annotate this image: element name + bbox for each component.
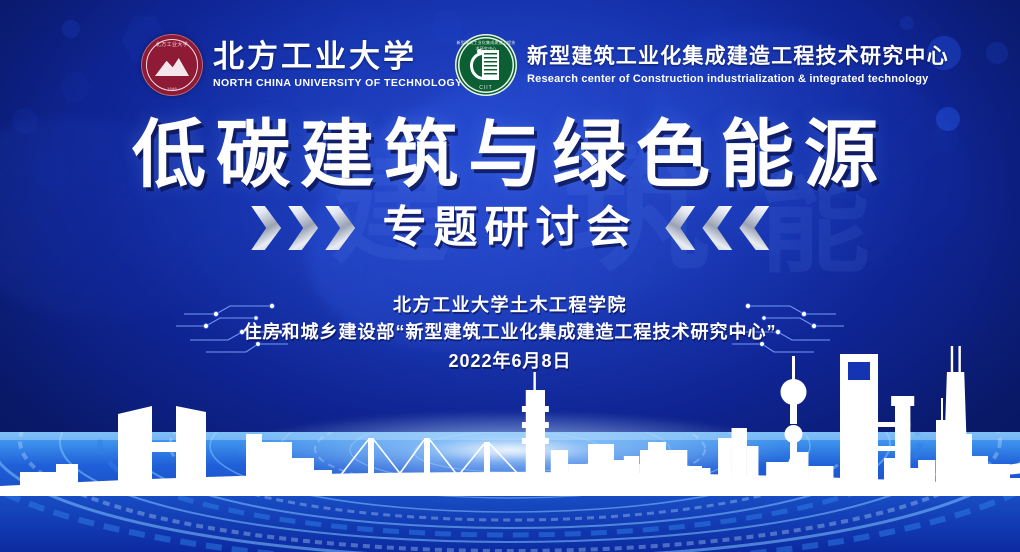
seal-arc-top-text: 北方工业大学 — [141, 41, 203, 48]
poster-subtitle-row: 专题研讨会 — [0, 206, 1020, 250]
ground-scene — [0, 352, 1020, 552]
twin-pylon-tower — [849, 396, 914, 486]
logo-block-ncut: 北方工业大学 · 1946 · 北方工业大学 NORTH CHINA UNIVE… — [141, 34, 463, 96]
ncut-name-cn: 北方工业大学 — [213, 41, 463, 74]
poster-canvas: 建 筑 能 北方工业大学 · 1946 · 北方工业大学 NORTH CHINA… — [0, 0, 1020, 552]
building-glyph-icon — [482, 50, 499, 80]
poster-main-title: 低碳建筑与绿色能源 — [0, 118, 1020, 192]
logo-row: 北方工业大学 · 1946 · 北方工业大学 NORTH CHINA UNIVE… — [0, 32, 1020, 110]
seal-arc-bottom-text: · 1946 · — [141, 86, 203, 91]
ncut-name-en: NORTH CHINA UNIVERSITY OF TECHNOLOGY — [213, 77, 463, 89]
ciit-name-en: Research center of Construction industri… — [527, 73, 949, 85]
seal-abbr-text: CIIT — [455, 85, 517, 91]
stadium-ship-structure — [970, 458, 1020, 488]
north-china-university-of-technology-seal-icon: 北方工业大学 · 1946 · — [141, 34, 203, 96]
info-line-center: 住房和城乡建设部“新型建筑工业化集成建造工程技术研究中心” — [0, 319, 1020, 347]
chevrons-right-icon — [249, 206, 357, 250]
city-skyline-right-half — [520, 346, 1020, 496]
poster-subtitle: 专题研讨会 — [383, 206, 638, 250]
ciit-research-center-seal-icon: 新型建筑工业化集成建造工程技术研究中心 CIIT — [455, 34, 517, 96]
info-line-organizer: 北方工业大学土木工程学院 — [0, 292, 1020, 319]
chevrons-left-icon — [664, 206, 772, 250]
ciit-name-cn: 新型建筑工业化集成建造工程技术研究中心 — [527, 45, 949, 68]
logo-block-ciit: 新型建筑工业化集成建造工程技术研究中心 CIIT 新型建筑工业化集成建造工程技术… — [455, 34, 949, 96]
canton-tower-spire — [943, 346, 968, 486]
taipei-101-tower — [522, 372, 549, 486]
